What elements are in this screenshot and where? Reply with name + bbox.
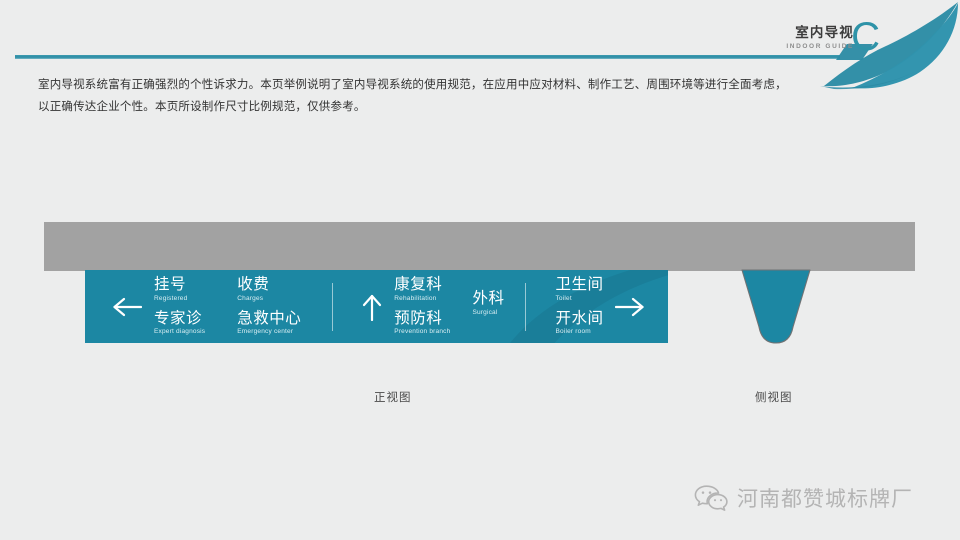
slide-canvas: 室内导视 INDOOR GUIDE C 室内导视系统富有正确强烈的个性诉求力。本… (0, 0, 960, 540)
sign-column-2: 收费 Charges 急救中心 Emergency center (237, 277, 301, 336)
watermark: 河南都赞城标牌厂 (694, 483, 913, 513)
sign-entry: 预防科 Prevention branch (394, 311, 450, 336)
sign-entry-cn: 收费 (237, 277, 301, 293)
ceiling-slab (44, 222, 915, 271)
sign-separator-1 (332, 283, 333, 331)
sign-entry-en: Rehabilitation (394, 296, 450, 303)
signboard-side-view (740, 269, 812, 346)
sign-entry: 康复科 Rehabilitation (394, 277, 450, 302)
sign-entry-en: Prevention branch (394, 329, 450, 336)
leaf-logo-icon (790, 0, 960, 92)
header-divider-line (15, 55, 840, 59)
wechat-icon (694, 484, 728, 512)
sign-entry-en: Expert diagnosis (154, 329, 205, 336)
arrow-up-icon (360, 293, 384, 321)
sign-column-1: 挂号 Registered 专家诊 Expert diagnosis (154, 277, 205, 336)
sign-entry: 外科 Surgical (472, 291, 504, 316)
sign-group-middle: 康复科 Rehabilitation 预防科 Prevention branch… (360, 277, 504, 336)
sign-entry-en: Emergency center (237, 329, 301, 336)
sign-entry-cn: 挂号 (154, 277, 205, 293)
signboard-front-view: 挂号 Registered 专家诊 Expert diagnosis 收费 Ch… (85, 270, 668, 343)
sign-entry-cn: 外科 (472, 291, 504, 307)
sign-entry-cn: 开水间 (555, 311, 603, 327)
sign-column-5: 卫生间 Toilet 开水间 Boiler room (555, 277, 603, 336)
sign-separator-2 (525, 283, 526, 331)
sign-entry-cn: 预防科 (394, 311, 450, 327)
signboard-content: 挂号 Registered 专家诊 Expert diagnosis 收费 Ch… (85, 270, 668, 343)
sign-entry-cn: 康复科 (394, 277, 450, 293)
sign-group-right: 卫生间 Toilet 开水间 Boiler room (555, 277, 645, 336)
sign-entry: 专家诊 Expert diagnosis (154, 311, 205, 336)
sign-group-left: 挂号 Registered 专家诊 Expert diagnosis 收费 Ch… (112, 277, 301, 336)
sign-entry-en: Registered (154, 296, 205, 303)
arrow-left-icon (112, 295, 142, 319)
sign-entry-en: Toilet (555, 296, 603, 303)
sign-entry-cn: 卫生间 (555, 277, 603, 293)
caption-front-view: 正视图 (374, 389, 412, 405)
sign-entry: 挂号 Registered (154, 277, 205, 302)
sign-entry-cn: 急救中心 (237, 311, 301, 327)
sign-entry-cn: 专家诊 (154, 311, 205, 327)
sign-column-3: 康复科 Rehabilitation 预防科 Prevention branch (394, 277, 450, 336)
watermark-text: 河南都赞城标牌厂 (737, 483, 913, 513)
sign-entry: 开水间 Boiler room (555, 311, 603, 336)
sign-entry-en: Surgical (472, 310, 504, 317)
sign-entry: 卫生间 Toilet (555, 277, 603, 302)
sign-entry: 急救中心 Emergency center (237, 311, 301, 336)
sign-entry-en: Boiler room (555, 329, 603, 336)
caption-side-view: 侧视图 (755, 389, 793, 405)
sign-entry: 收费 Charges (237, 277, 301, 302)
arrow-right-icon (615, 295, 645, 319)
sign-column-4: 外科 Surgical (472, 291, 504, 316)
intro-paragraph: 室内导视系统富有正确强烈的个性诉求力。本页举例说明了室内导视系统的使用规范，在应… (38, 74, 798, 118)
sign-entry-en: Charges (237, 296, 301, 303)
